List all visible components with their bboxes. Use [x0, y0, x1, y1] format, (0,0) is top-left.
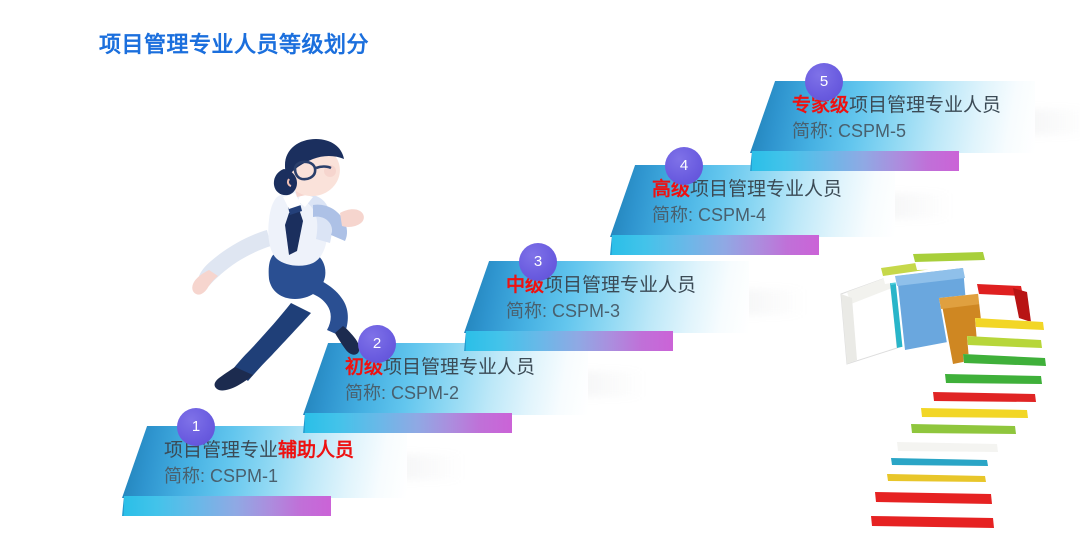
step-number-badge-3[interactable]: 3: [519, 243, 557, 281]
step-suffix-5: 项目管理专业人员: [849, 95, 1001, 116]
step-riser-bar: [305, 413, 512, 433]
step-abbrev-1: 简称: CSPM-1: [164, 464, 354, 489]
step-riser-bar: [466, 331, 673, 351]
stacked-books-question-mark-illustration: [835, 252, 1080, 545]
step-riser-bar: [612, 235, 819, 255]
step-suffix-4: 项目管理专业人员: [690, 179, 842, 200]
step-abbrev-5: 简称: CSPM-5: [792, 119, 1001, 144]
step-abbrev-2: 简称: CSPM-2: [345, 381, 535, 406]
page-title: 项目管理专业人员等级划分: [99, 27, 369, 59]
step-number-badge-2[interactable]: 2: [358, 325, 396, 363]
step-prefix-1: 项目管理专业: [164, 440, 278, 461]
step-highlight-1: 辅助人员: [278, 440, 354, 461]
step-abbrev-4: 简称: CSPM-4: [652, 203, 842, 228]
step-abbrev-3: 简称: CSPM-3: [506, 299, 696, 324]
step-number-badge-5[interactable]: 5: [805, 63, 843, 101]
step-number-badge-4[interactable]: 4: [665, 147, 703, 185]
step-riser-bar: [752, 151, 959, 171]
step-number-badge-1[interactable]: 1: [177, 408, 215, 446]
step-suffix-2: 项目管理专业人员: [383, 357, 535, 378]
slide-canvas: 项目管理专业人员等级划分: [0, 0, 1080, 545]
step-riser-bar: [124, 496, 331, 516]
step-suffix-3: 项目管理专业人员: [544, 275, 696, 296]
